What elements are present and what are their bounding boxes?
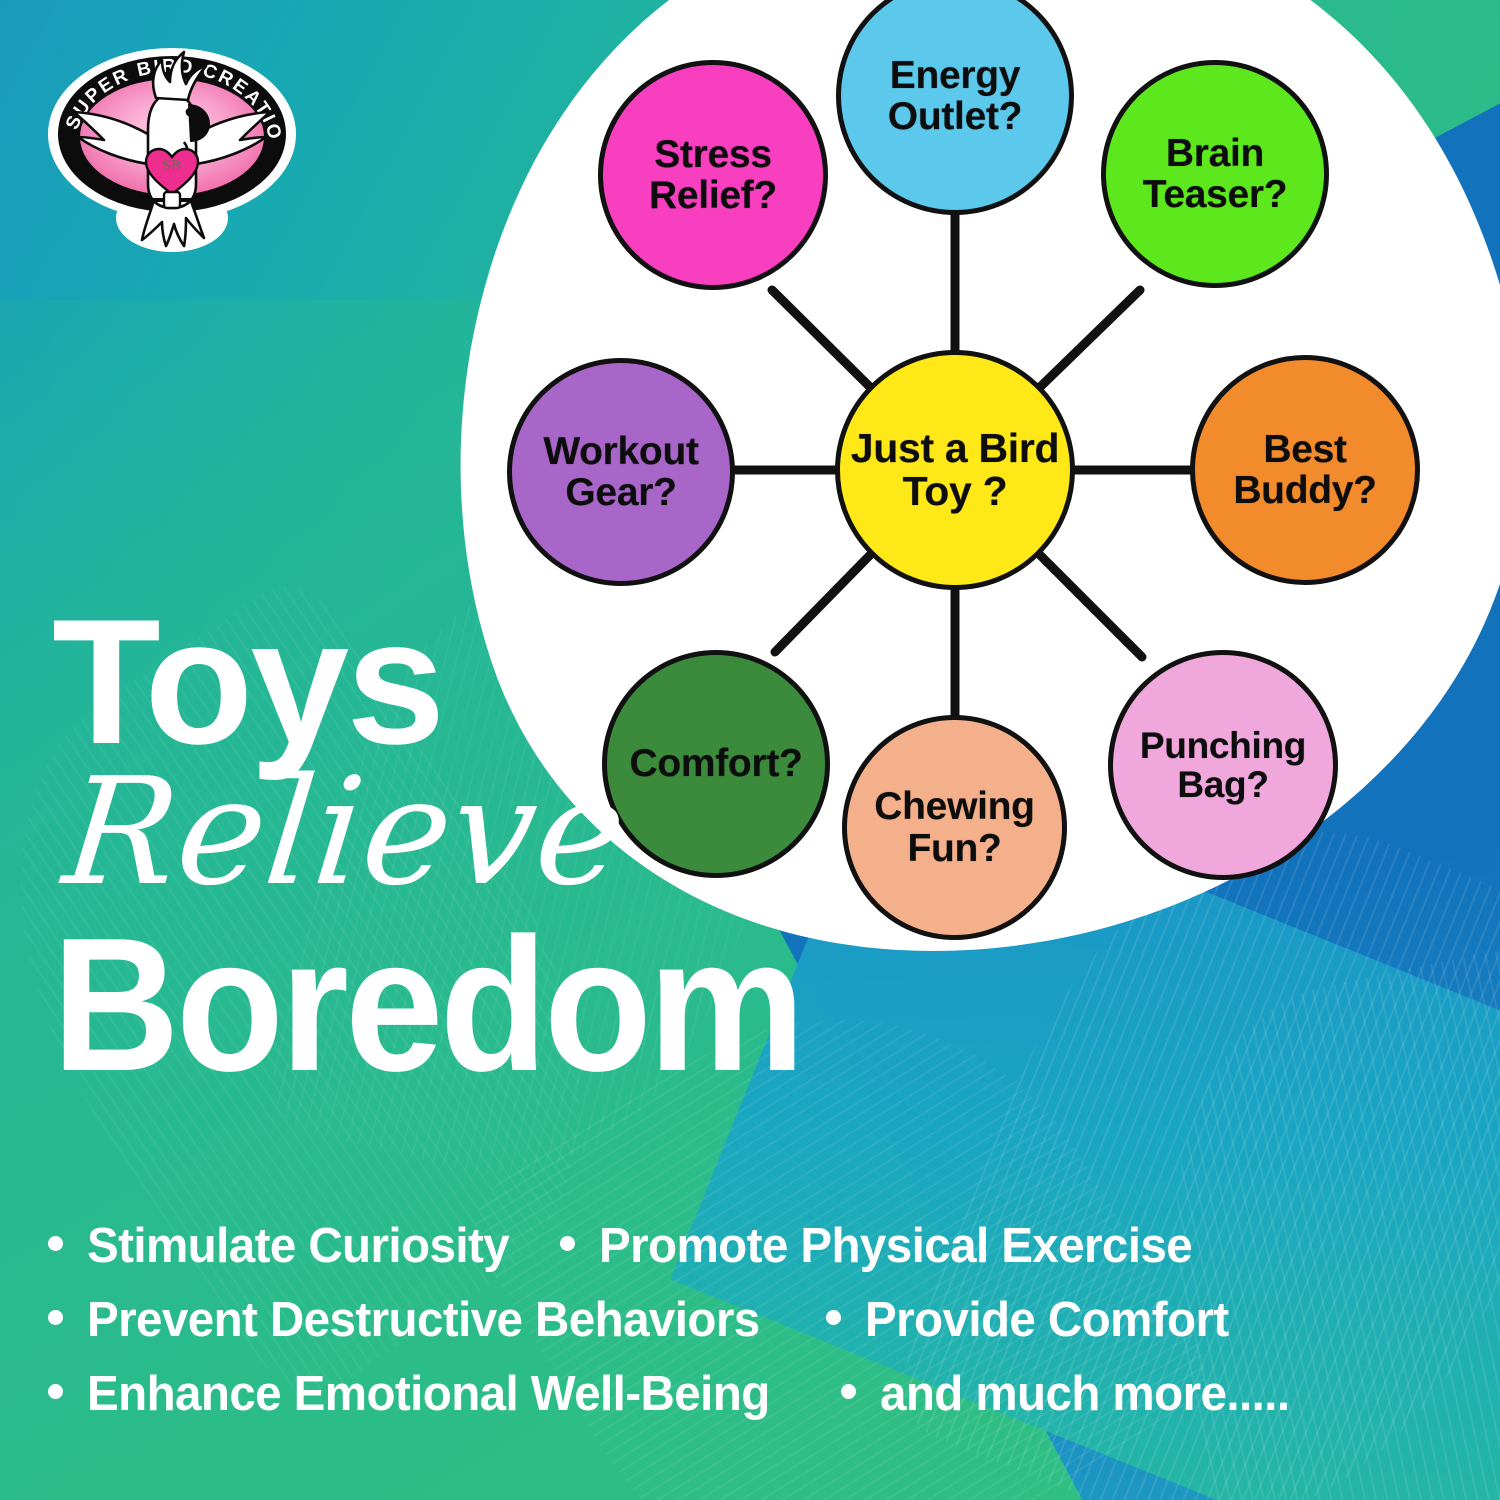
benefits-row: Prevent Destructive Behaviors Provide Co… — [48, 1292, 1458, 1366]
headline-line-relieve: Relieve — [58, 758, 940, 906]
benefit-label: Enhance Emotional Well-Being — [87, 1366, 770, 1422]
logo-heart-monogram: SB — [163, 158, 181, 174]
bullet-dot-icon — [48, 1236, 63, 1251]
node-best-buddy[interactable]: Best Buddy? — [1190, 355, 1420, 585]
super-bird-creations-logo[interactable]: SUPER BIRD CREATIONS — [38, 42, 306, 254]
bullet-dot-icon — [48, 1384, 63, 1399]
headline-line-toys: Toys — [52, 600, 932, 764]
benefit-item: Prevent Destructive Behaviors — [48, 1292, 780, 1348]
headline-line-boredom: Boredom — [52, 922, 870, 1089]
bullet-dot-icon — [48, 1310, 63, 1325]
bullet-dot-icon — [841, 1384, 856, 1399]
node-stress-relief[interactable]: Stress Relief? — [598, 60, 828, 290]
bullet-dot-icon — [560, 1236, 575, 1251]
benefit-label: and much more..... — [880, 1366, 1289, 1422]
poster: Just a Bird Toy ? Energy Outlet? Brain T… — [0, 0, 1500, 1500]
benefit-label: Provide Comfort — [865, 1292, 1229, 1348]
benefit-item: Promote Physical Exercise — [560, 1218, 1210, 1274]
benefit-item: Provide Comfort — [826, 1292, 1240, 1348]
node-workout-gear[interactable]: Workout Gear? — [507, 358, 735, 586]
benefits-row: Stimulate Curiosity Promote Physical Exe… — [48, 1218, 1458, 1292]
node-punching-bag[interactable]: Punching Bag? — [1108, 650, 1338, 880]
benefits-row: Enhance Emotional Well-Being and much mo… — [48, 1366, 1458, 1440]
node-just-a-bird-toy[interactable]: Just a Bird Toy ? — [835, 350, 1075, 590]
benefits-list: Stimulate Curiosity Promote Physical Exe… — [48, 1218, 1458, 1440]
node-brain-teaser[interactable]: Brain Teaser? — [1101, 60, 1329, 288]
benefit-item: Stimulate Curiosity — [48, 1218, 522, 1274]
benefit-label: Promote Physical Exercise — [599, 1218, 1192, 1274]
bullet-dot-icon — [826, 1310, 841, 1325]
benefit-label: Stimulate Curiosity — [87, 1218, 509, 1274]
benefit-label: Prevent Destructive Behaviors — [87, 1292, 760, 1348]
benefit-item: Enhance Emotional Well-Being — [48, 1366, 791, 1422]
headline: Toys Relieve Boredom — [52, 600, 932, 1089]
benefit-item: and much more..... — [841, 1366, 1302, 1422]
